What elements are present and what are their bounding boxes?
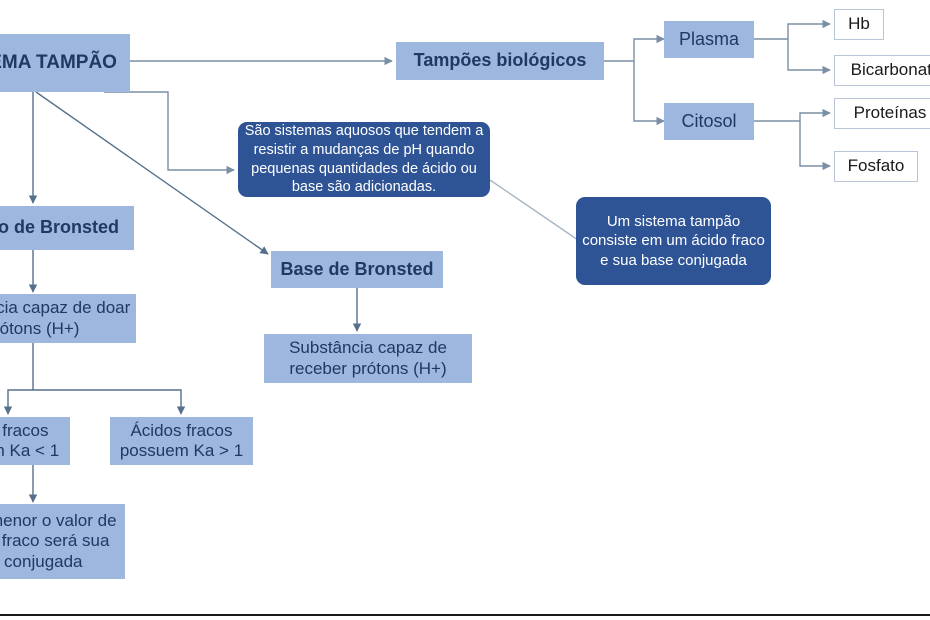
node-quanto-menor-ka[interactable]: Quanto menor o valor de Ka mais fraco se… <box>0 504 125 579</box>
node-citosol-label: Citosol <box>681 111 736 132</box>
node-quanto-menor-ka-label: Quanto menor o valor de Ka mais fraco se… <box>0 511 125 571</box>
node-acidos-fracos-ka-maior-label: Ácidos fracos possuem Ka > 1 <box>110 421 253 461</box>
node-plasma[interactable]: Plasma <box>664 21 754 58</box>
node-base-bronsted[interactable]: Base de Bronsted <box>271 251 443 288</box>
connector-layer <box>0 0 930 620</box>
node-receber-protons[interactable]: Substância capaz de receber prótons (H+) <box>264 334 472 383</box>
node-definicao-tampao[interactable]: São sistemas aquosos que tendem a resist… <box>238 122 490 197</box>
node-bicarbonato-label: Bicarbonato <box>851 60 930 80</box>
connector-doar-to-ka-maior <box>33 390 181 414</box>
bottom-divider <box>0 614 930 616</box>
node-sistema-acido-fraco-label: Um sistema tampão consiste em um ácido f… <box>582 212 765 271</box>
node-plasma-label: Plasma <box>679 29 739 50</box>
node-doar-protons-label: Substância capaz de doar prótons (H+) <box>0 298 136 338</box>
node-acidos-fracos-ka-maior[interactable]: Ácidos fracos possuem Ka > 1 <box>110 417 253 465</box>
node-citosol[interactable]: Citosol <box>664 103 754 140</box>
node-fosfato[interactable]: Fosfato <box>834 151 918 182</box>
connector-plasma-to-hb <box>754 24 830 39</box>
node-hb-label: Hb <box>848 14 870 34</box>
connector-definicao-to-sistema-acido <box>490 180 578 240</box>
node-base-bronsted-label: Base de Bronsted <box>280 259 433 280</box>
connector-tampoes-to-plasma <box>604 39 664 61</box>
node-tampoes-biologicos-label: Tampões biológicos <box>414 50 587 71</box>
node-acido-bronsted[interactable]: Ácido de Bronsted <box>0 206 134 250</box>
node-acido-bronsted-label: Ácido de Bronsted <box>0 217 119 238</box>
node-sistema-tampao-label: SISTEMA TAMPÃO <box>0 52 117 74</box>
connector-citosol-to-proteinas <box>754 113 830 121</box>
node-doar-protons[interactable]: Substância capaz de doar prótons (H+) <box>0 294 136 343</box>
node-receber-protons-label: Substância capaz de receber prótons (H+) <box>264 338 472 378</box>
node-sistema-acido-fraco[interactable]: Um sistema tampão consiste em um ácido f… <box>576 197 771 285</box>
connector-plasma-to-bicarbonato <box>788 39 830 70</box>
connector-sistema-to-definicao <box>104 92 234 170</box>
node-fosfato-label: Fosfato <box>848 156 905 176</box>
node-bicarbonato[interactable]: Bicarbonato <box>834 55 930 86</box>
connector-citosol-to-fosfato <box>800 121 830 166</box>
node-acidos-fracos-ka-menor[interactable]: Ácidos fracos possuem Ka < 1 <box>0 417 70 465</box>
diagram-canvas: SISTEMA TAMPÃO Tampões biológicos Plasma… <box>0 0 930 620</box>
node-proteinas-label: Proteínas <box>854 103 927 123</box>
node-proteinas[interactable]: Proteínas <box>834 98 930 129</box>
node-tampoes-biologicos[interactable]: Tampões biológicos <box>396 42 604 80</box>
node-sistema-tampao[interactable]: SISTEMA TAMPÃO <box>0 34 130 92</box>
connector-doar-to-ka-menor <box>8 343 33 414</box>
connector-tampoes-to-citosol <box>634 61 664 121</box>
node-hb[interactable]: Hb <box>834 9 884 40</box>
node-acidos-fracos-ka-menor-label: Ácidos fracos possuem Ka < 1 <box>0 421 70 461</box>
node-definicao-tampao-label: São sistemas aquosos que tendem a resist… <box>244 122 484 197</box>
